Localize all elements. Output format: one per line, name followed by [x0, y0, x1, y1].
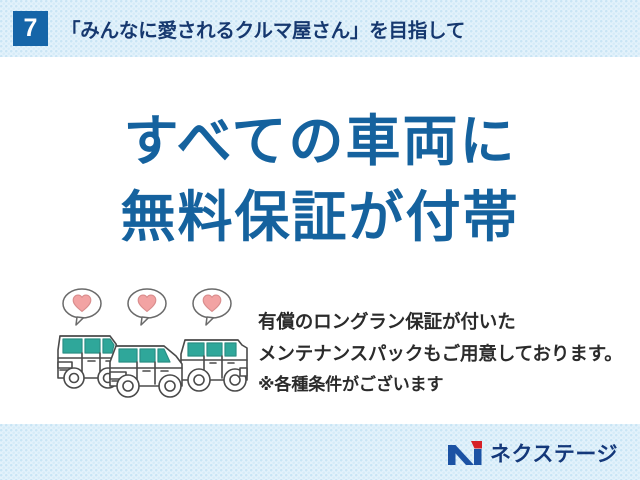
- heart-bubble-1: [63, 289, 101, 325]
- car-suv: [181, 340, 247, 391]
- heart-bubble-3: [193, 289, 231, 325]
- header-title: 「みんなに愛されるクルマ屋さん」を目指して: [61, 14, 465, 43]
- car-wagon: [110, 346, 182, 397]
- nextage-n-mark-icon: [447, 440, 483, 466]
- banner-header: 7 「みんなに愛されるクルマ屋さん」を目指して: [0, 0, 640, 57]
- nextage-logo-text: ネクステージ: [490, 438, 618, 468]
- description-note: ※各種条件がございます: [258, 370, 618, 399]
- step-number-badge: 7: [13, 11, 48, 46]
- description-line-2: メンテナンスパックもご用意しております。: [258, 338, 618, 370]
- nextage-logo: ネクステージ: [447, 438, 618, 468]
- headline-line-2: 無料保証が付帯: [0, 180, 640, 256]
- headline: すべての車両に 無料保証が付帯: [0, 104, 640, 256]
- car-minivan: [58, 336, 118, 388]
- headline-line-1: すべての車両に: [0, 104, 640, 180]
- three-cars-illustration: [52, 288, 250, 400]
- description-line-1: 有償のロングラン保証が付いた: [258, 306, 618, 338]
- warranty-promo-banner: 7 「みんなに愛されるクルマ屋さん」を目指して すべての車両に 無料保証が付帯: [0, 0, 640, 480]
- content-row: 有償のロングラン保証が付いた メンテナンスパックもご用意しております。 ※各種条…: [0, 288, 640, 412]
- cars-svg: [52, 288, 250, 400]
- description-text: 有償のロングラン保証が付いた メンテナンスパックもご用意しております。 ※各種条…: [258, 306, 618, 399]
- heart-bubble-2: [128, 289, 166, 325]
